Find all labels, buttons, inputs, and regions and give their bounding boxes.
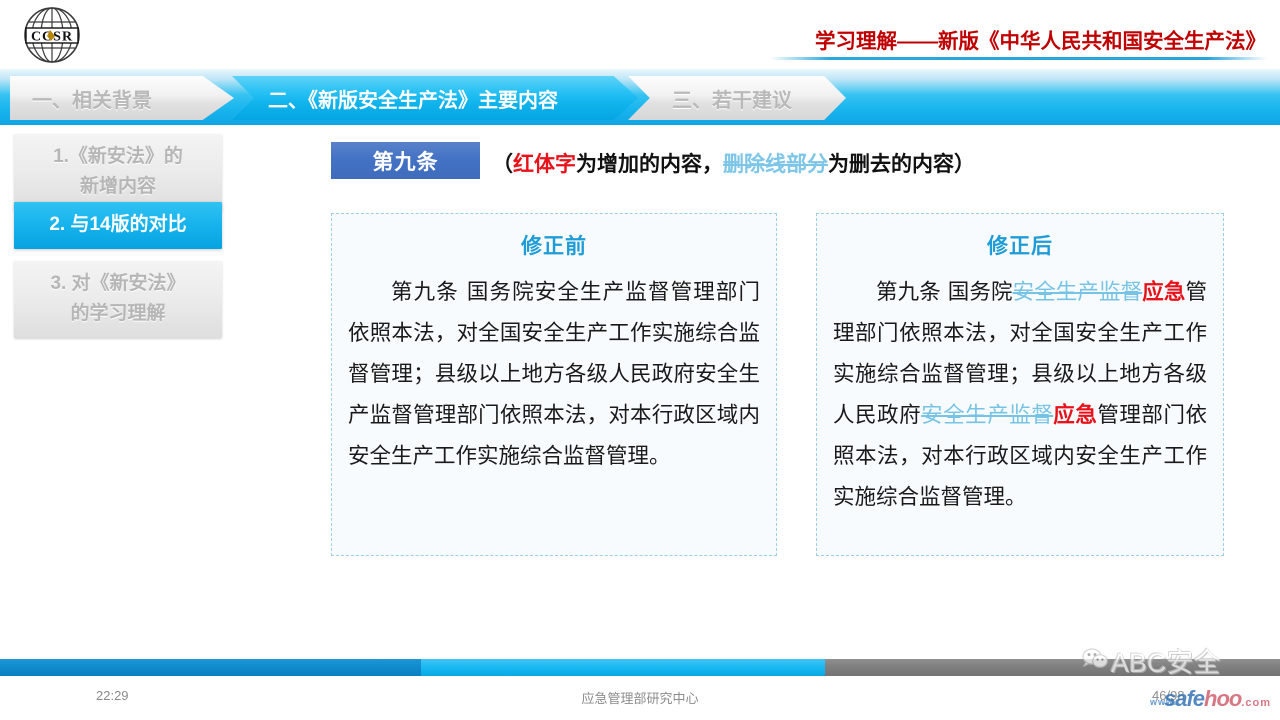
nav-tab-label: 二、《新版安全生产法》主要内容 (268, 84, 558, 113)
legend-tail-text: 为删去的内容） (828, 153, 975, 176)
panel-heading: 修正前 (348, 230, 760, 260)
watermark-account-label: ABC安全 (1111, 641, 1221, 680)
clause-number-badge: 第九条 (331, 142, 480, 179)
panel-before-revision: 修正前 第九条 国务院安全生产监督管理部门依照本法，对全国安全生产工作实施综合监… (331, 213, 777, 556)
watermark-safehoo-part1: safe (1164, 686, 1204, 711)
sidebar-item-comparison[interactable]: 2. 与14版的对比 (14, 202, 222, 249)
panel-after-revision: 修正后 第九条 国务院安全生产监督应急管理部门依照本法，对全国安全生产工作实施综… (816, 213, 1224, 556)
footer-organization: 应急管理部研究中心 (0, 688, 1280, 707)
watermark-safehoo-tld: .com (1241, 697, 1271, 709)
nav-tab-main-content[interactable]: 二、《新版安全生产法》主要内容 (232, 76, 638, 120)
text-segment-plain: 第九条 国务院安全生产监督管理部门依照本法，对全国安全生产工作实施综合监督管理；… (348, 280, 760, 469)
legend-note: （红体字为增加的内容，删除线部分为删去的内容） (492, 148, 975, 178)
legend-deleted-sample: 删除线部分 (723, 153, 828, 176)
watermark-wechat-account: ABC安全 (1082, 641, 1221, 680)
progress-bar-segment-light (421, 659, 825, 676)
sidebar-item-label-line1: 2. 与14版的对比 (20, 210, 216, 240)
header-divider (770, 57, 1267, 60)
panel-body-text: 第九条 国务院安全生产监督应急管理部门依照本法，对全国安全生产工作实施综合监督管… (833, 272, 1207, 518)
sidebar-item-label-line2: 的学习理解 (20, 299, 216, 329)
wechat-icon (1082, 647, 1108, 674)
text-segment-deleted: 安全生产监督 (1013, 280, 1143, 305)
text-segment-plain: 第九条 国务院 (876, 280, 1013, 305)
sidebar-item-label-line2: 新增内容 (20, 172, 216, 202)
nav-tab-background[interactable]: 一、相关背景 (10, 76, 234, 120)
text-segment-deleted: 安全生产监督 (921, 403, 1053, 428)
sidebar-item-label-line1: 1.《新安法》的 (20, 142, 216, 172)
text-segment-added: 应急 (1142, 280, 1185, 305)
legend-open-paren: （ (492, 153, 513, 176)
panel-heading: 修正后 (833, 230, 1207, 260)
legend-added-sample: 红体字 (513, 153, 576, 176)
nav-tab-suggestions[interactable]: 三、若干建议 (628, 76, 846, 120)
watermark-safehoo: safehoo.com (1164, 686, 1271, 712)
sidebar-item-study[interactable]: 3. 对《新安法》 的学习理解 (14, 261, 222, 338)
slide-canvas: CCSR 学习理解——新版《中华人民共和国安全生产法》 一、相关背景 二、《新版… (0, 0, 1280, 720)
text-segment-added: 应急 (1053, 403, 1097, 428)
panel-body-text: 第九条 国务院安全生产监督管理部门依照本法，对全国安全生产工作实施综合监督管理；… (348, 272, 760, 477)
watermark-safehoo-part2: hoo (1204, 686, 1241, 711)
progress-bar-segment-dark (0, 659, 421, 676)
sidebar-item-new-content[interactable]: 1.《新安法》的 新增内容 (14, 134, 222, 211)
legend-middle-text: 为增加的内容， (576, 153, 723, 176)
nav-tab-label: 一、相关背景 (32, 84, 152, 113)
sidebar-item-label-line1: 3. 对《新安法》 (20, 269, 216, 299)
page-title: 学习理解——新版《中华人民共和国安全生产法》 (815, 24, 1266, 54)
nav-tab-label: 三、若干建议 (672, 84, 792, 113)
ccsr-globe-logo: CCSR (17, 6, 87, 64)
